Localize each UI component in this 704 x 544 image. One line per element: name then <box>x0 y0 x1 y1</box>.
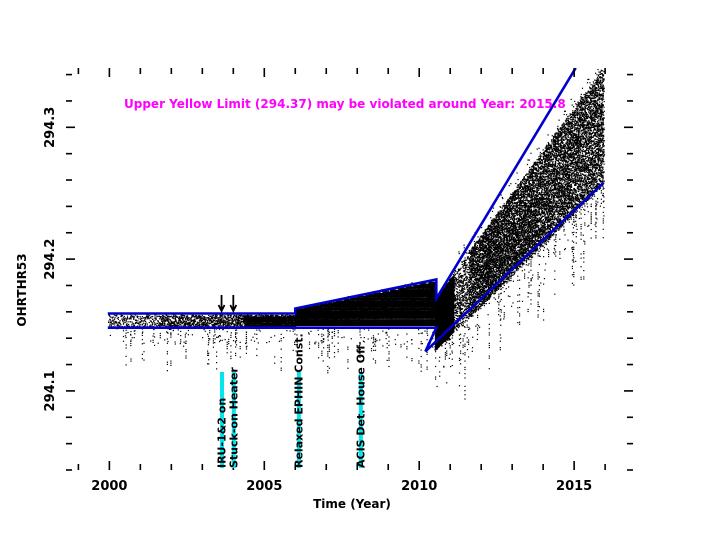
xtick-label: 2010 <box>401 479 437 494</box>
clip-mask-top <box>0 0 704 68</box>
event-arrow-marker <box>219 295 225 311</box>
axis-ticks <box>66 68 633 470</box>
ytick-label: 294.3 <box>43 107 58 148</box>
xtick-label: 2015 <box>556 479 592 494</box>
event-label: ACIS Det. House Off <box>354 345 367 468</box>
event-label: Stuck-on Heater <box>227 367 240 468</box>
xtick-label: 2000 <box>91 479 127 494</box>
chart-canvas: 2000200520102015294.1294.2294.3Time (Yea… <box>0 0 704 544</box>
ytick-label: 294.2 <box>43 239 58 280</box>
plot-figure: 2000200520102015294.1294.2294.3Time (Yea… <box>0 0 704 544</box>
event-annotation: ACIS Det. House Off <box>354 345 367 468</box>
xtick-label: 2005 <box>246 479 282 494</box>
x-axis-label: Time (Year) <box>313 497 391 511</box>
y-axis-label: OHRTHR53 <box>15 253 29 326</box>
ytick-label: 294.1 <box>43 370 58 411</box>
clip-mask-right <box>634 0 704 544</box>
event-label: Relaxed EPHIN Const. <box>292 333 305 468</box>
event-annotation: Relaxed EPHIN Const. <box>292 333 305 468</box>
violation-title: Upper Yellow Limit (294.37) may be viola… <box>124 97 566 111</box>
plot-frame <box>66 68 633 470</box>
event-arrow-marker <box>230 295 236 311</box>
